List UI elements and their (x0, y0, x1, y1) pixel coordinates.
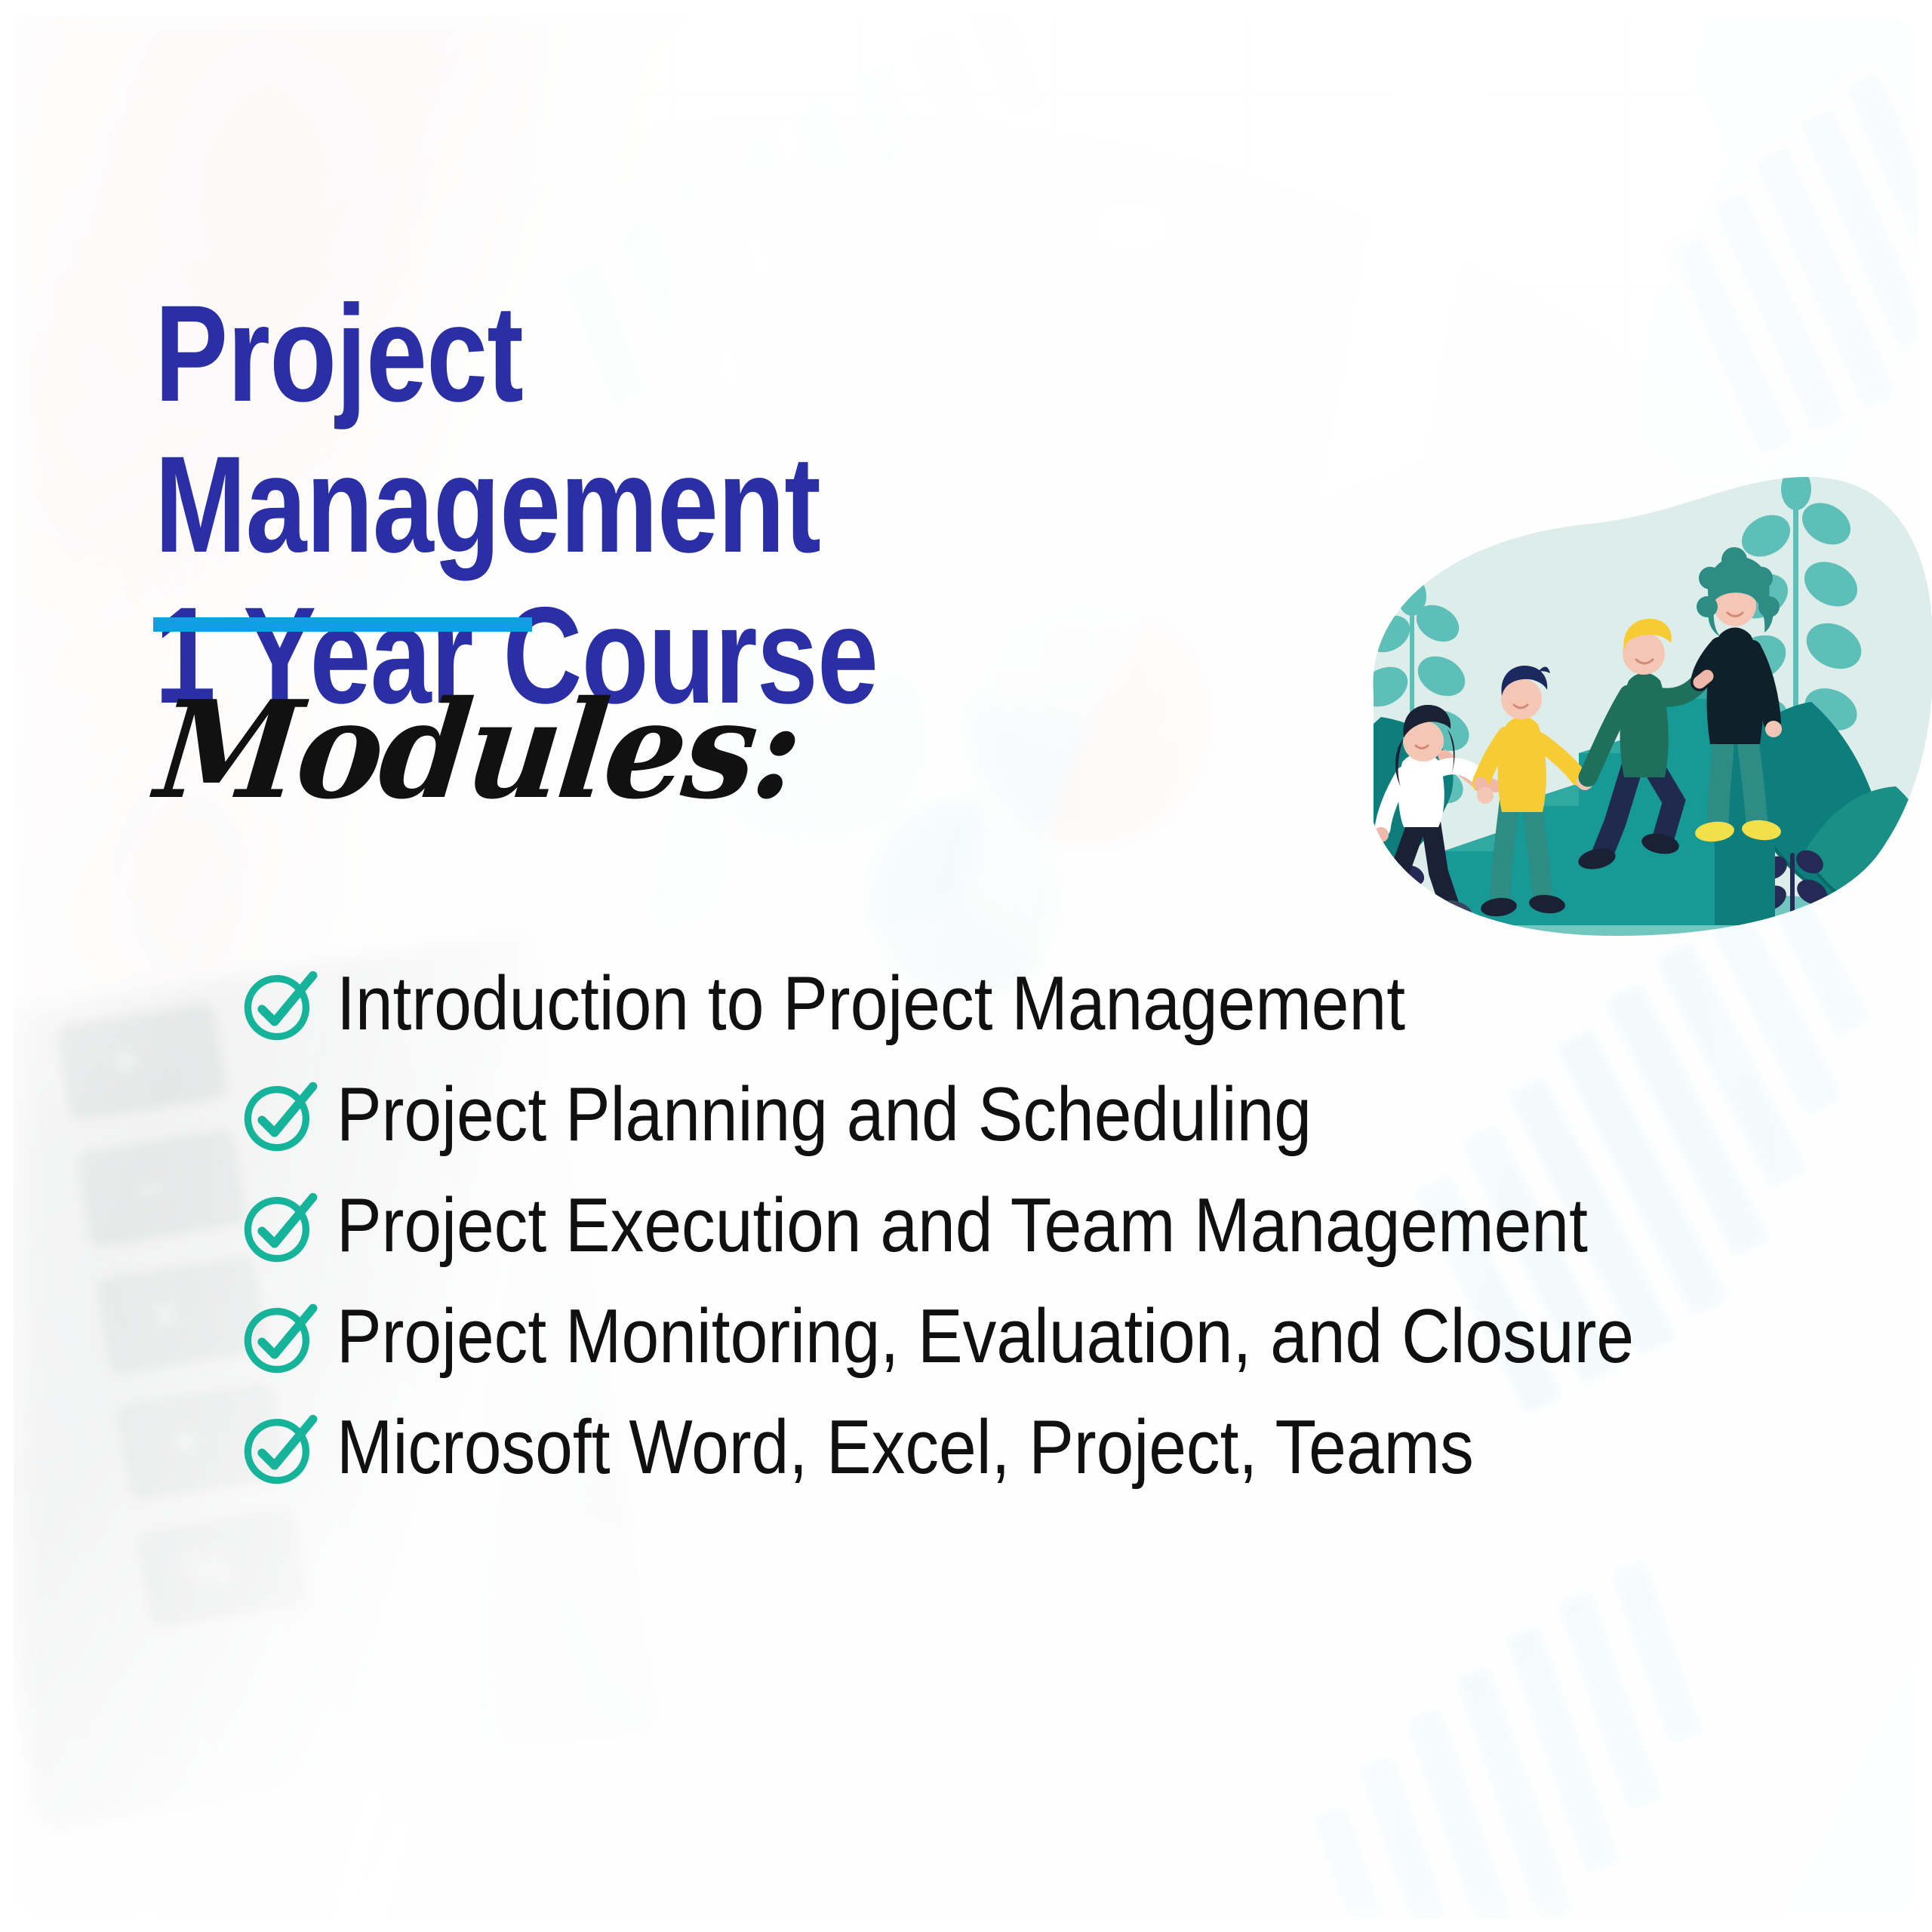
page-title: Project Management1 Year Course (155, 278, 1181, 731)
course-poster: + − × + % 5 6 4 Project Management1 Year… (0, 0, 1932, 1932)
check-circle-icon (240, 1299, 318, 1377)
check-circle-icon (240, 1410, 318, 1488)
module-label: Microsoft Word, Excel, Project, Teams (337, 1410, 1474, 1486)
module-label: Introduction to Project Management (337, 966, 1405, 1042)
modules-list: Introduction to Project Management Proje… (240, 949, 1847, 1504)
modules-heading: Modules: (151, 683, 806, 817)
list-item[interactable]: Project Execution and Team Management (240, 1171, 1847, 1280)
check-circle-icon (240, 1188, 318, 1266)
team-climbing-stairs-illustration (1283, 445, 1932, 974)
module-label: Project Planning and Scheduling (337, 1077, 1312, 1153)
list-item[interactable]: Project Planning and Scheduling (240, 1060, 1847, 1169)
list-item[interactable]: Microsoft Word, Excel, Project, Teams (240, 1393, 1847, 1502)
navy-sprig-left-2 (1347, 870, 1398, 930)
module-label: Project Monitoring, Evaluation, and Clos… (337, 1299, 1634, 1375)
list-item[interactable]: Project Monitoring, Evaluation, and Clos… (240, 1282, 1847, 1391)
title-line-1: Project Management (155, 276, 820, 581)
check-circle-icon (240, 1077, 318, 1155)
title-accent-bar (153, 617, 532, 632)
check-circle-icon (240, 966, 318, 1044)
module-label: Project Execution and Team Management (337, 1188, 1588, 1264)
